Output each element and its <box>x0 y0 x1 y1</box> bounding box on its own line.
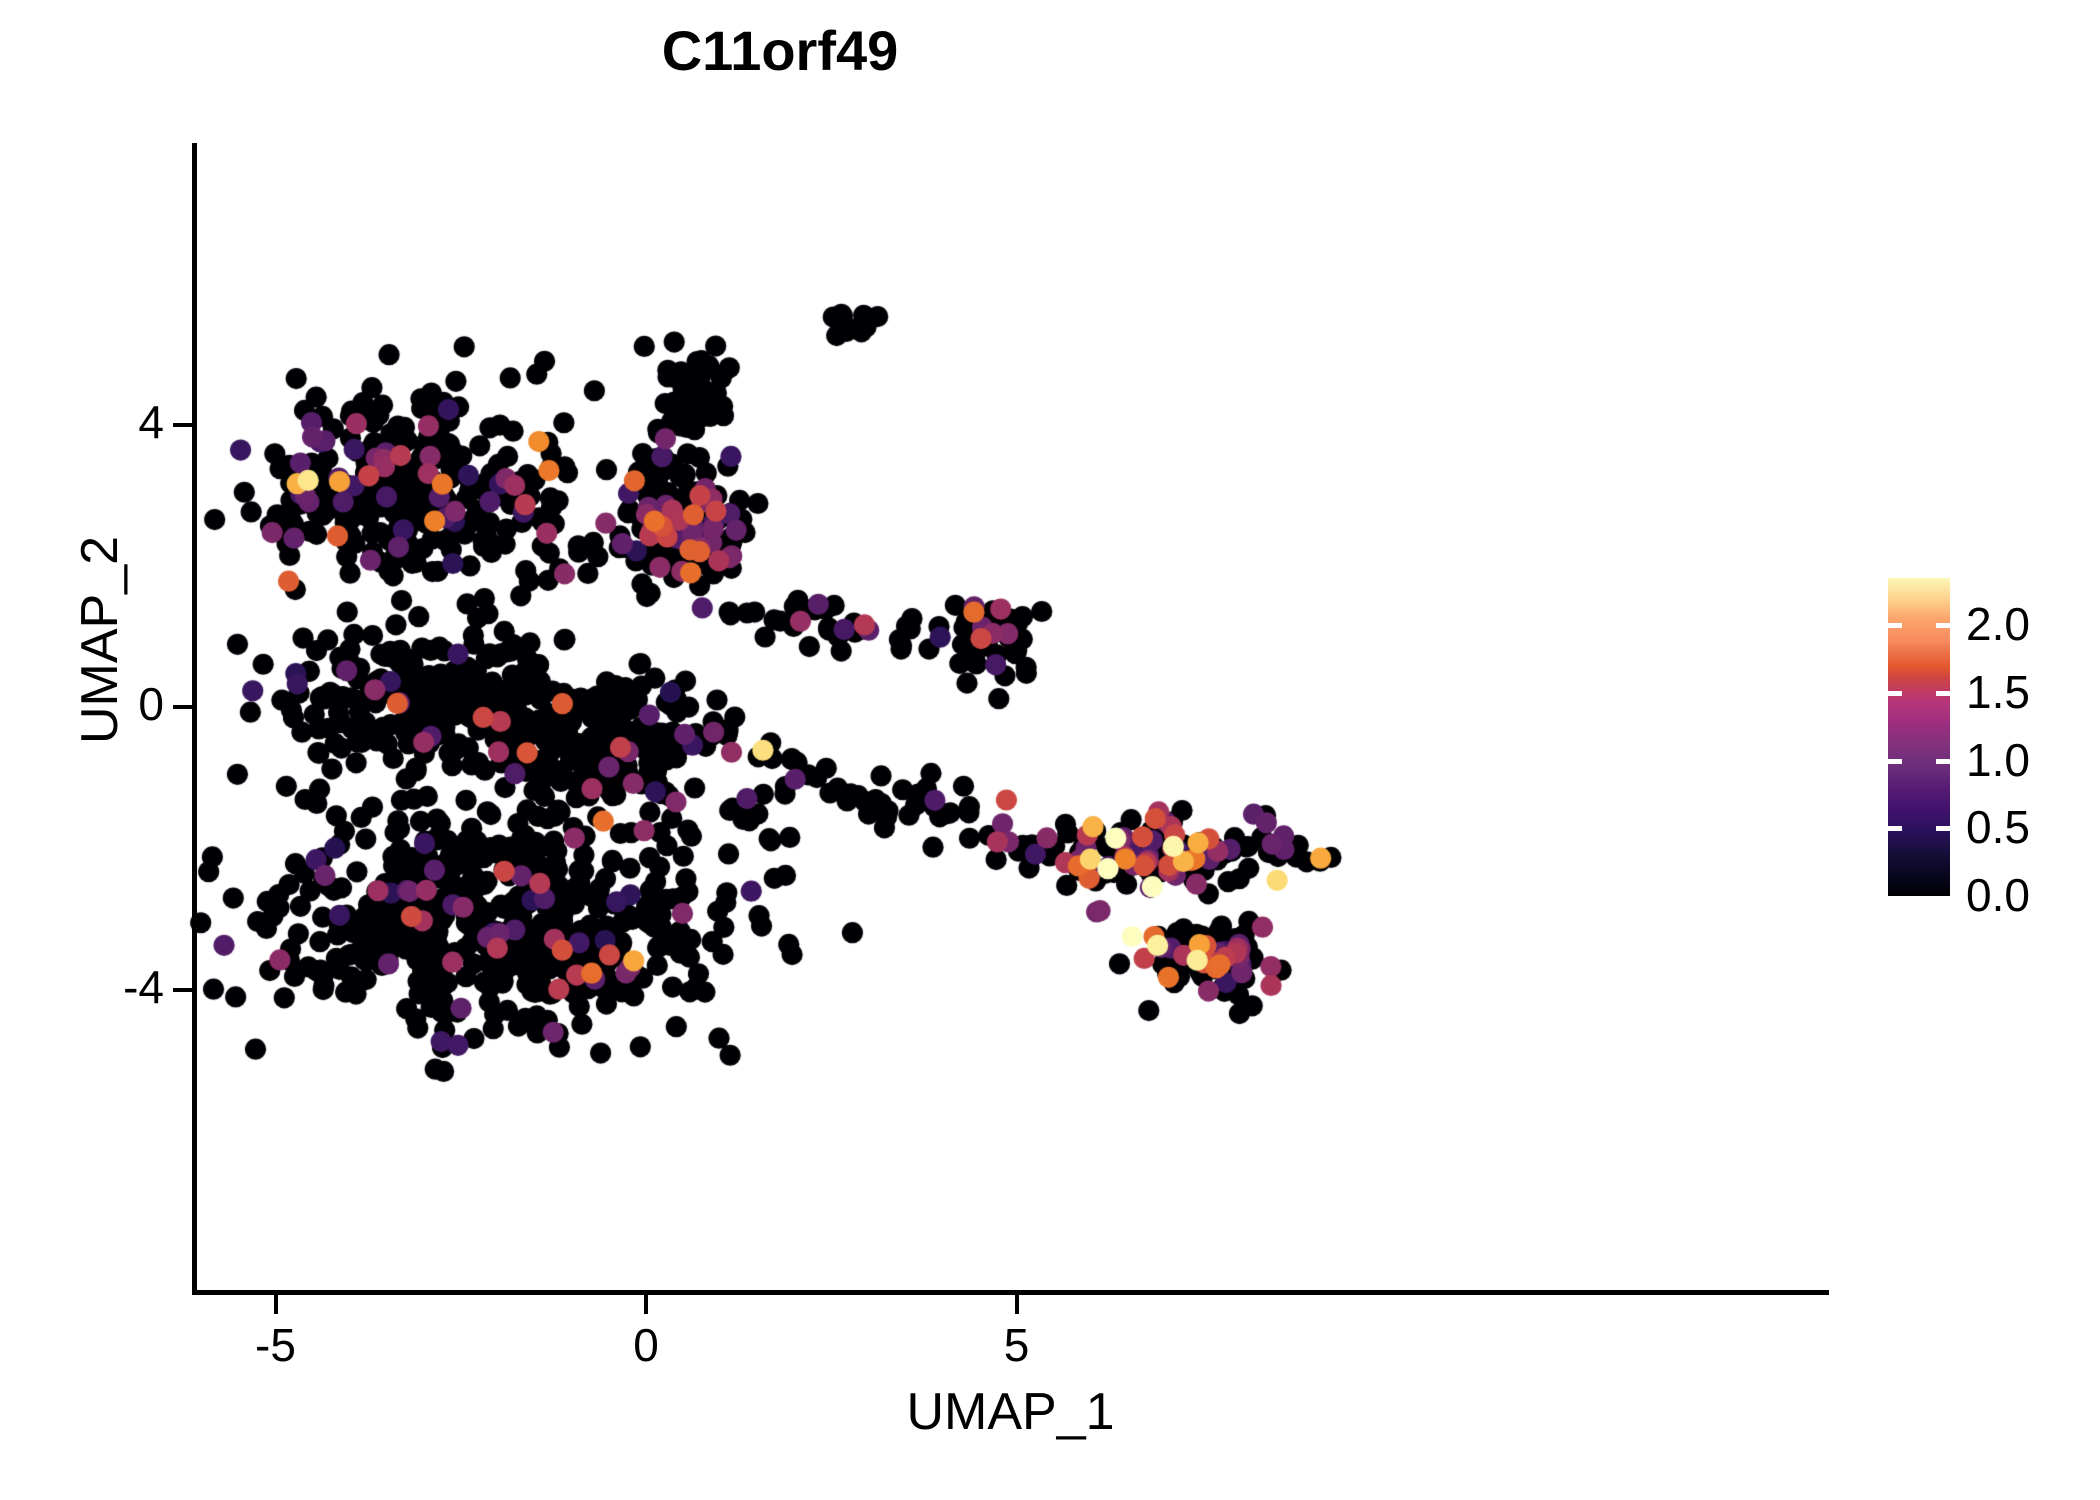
feature-plot-root: C11orf49 -50540-4 UMAP_1 UMAP_2 2.01.51.… <box>0 0 2100 1500</box>
x-tick-label: -5 <box>206 1318 346 1372</box>
x-tick-mark <box>644 1295 648 1314</box>
y-tick-mark <box>173 988 192 992</box>
x-tick-mark <box>274 1295 278 1314</box>
x-axis-title: UMAP_1 <box>192 1382 1829 1442</box>
colorbar-tick <box>1888 826 1902 831</box>
colorbar-tick <box>1936 623 1950 628</box>
umap-scatter-canvas[interactable] <box>0 0 2100 1500</box>
y-tick-mark <box>173 423 192 427</box>
x-axis-line <box>192 1290 1829 1295</box>
colorbar-tick-label: 0.0 <box>1966 868 2030 922</box>
y-tick-mark <box>173 705 192 709</box>
colorbar-tick <box>1888 759 1902 764</box>
colorbar-tick-label: 1.5 <box>1966 665 2030 719</box>
colorbar-tick <box>1936 691 1950 696</box>
x-tick-label: 0 <box>576 1318 716 1372</box>
colorbar-tick <box>1936 759 1950 764</box>
colorbar-tick <box>1888 691 1902 696</box>
x-tick-mark <box>1015 1295 1019 1314</box>
colorbar-tick-label: 2.0 <box>1966 597 2030 651</box>
colorbar-tick <box>1936 826 1950 831</box>
x-tick-label: 5 <box>947 1318 1087 1372</box>
colorbar-tick-label: 0.5 <box>1966 800 2030 854</box>
color-legend[interactable]: 2.01.51.00.50.0 <box>1888 578 2078 898</box>
y-axis-line <box>192 143 197 1295</box>
colorbar-tick <box>1888 623 1902 628</box>
colorbar-tick-label: 1.0 <box>1966 733 2030 787</box>
y-axis-title: UMAP_2 <box>70 240 130 1040</box>
